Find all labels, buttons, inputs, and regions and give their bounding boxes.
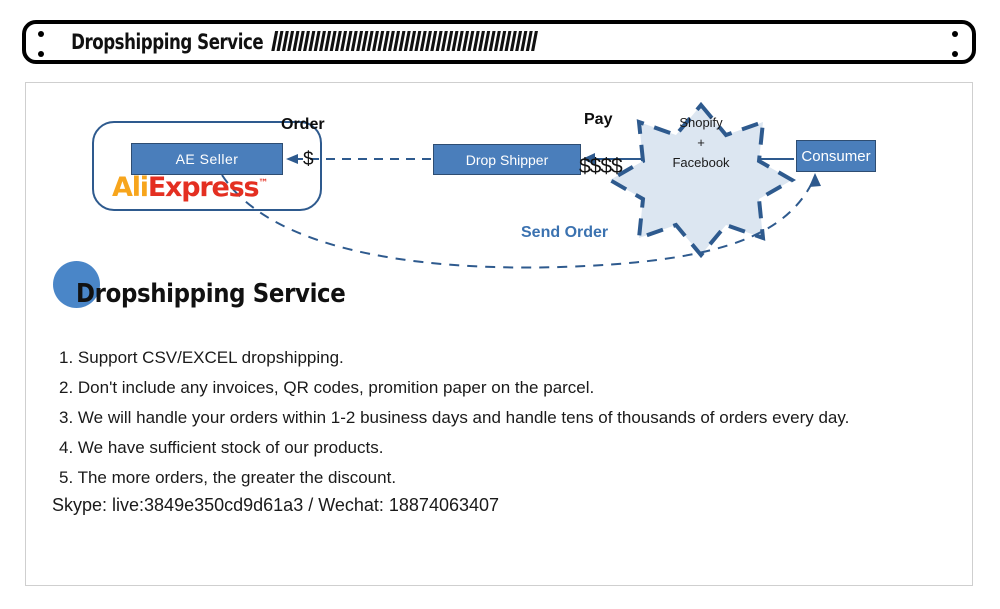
dot-icon xyxy=(952,31,958,37)
label-pay: Pay xyxy=(584,111,612,129)
aliexpress-logo: AliExpress™ xyxy=(112,172,268,203)
node-drop-shipper: Drop Shipper xyxy=(433,144,581,175)
trademark-icon: ™ xyxy=(258,178,268,189)
page-title-text: Dropshipping Service xyxy=(71,30,263,54)
aliexpress-logo-ali: Ali xyxy=(112,172,148,203)
section-heading-text: Dropshipping Service xyxy=(76,279,345,309)
node-drop-shipper-label: Drop Shipper xyxy=(466,152,549,168)
label-order: Order xyxy=(281,116,325,134)
label-send-order: Send Order xyxy=(521,224,608,242)
dropshipping-flow-diagram: AliExpress™ AE Seller Drop Shipper Consu… xyxy=(26,83,974,283)
node-ae-seller: AE Seller xyxy=(131,143,283,175)
star-label-line2: + xyxy=(646,133,756,153)
header-banner: Dropshipping Service ///////////////////… xyxy=(22,20,976,64)
list-item: 4. We have sufficient stock of our produ… xyxy=(59,433,959,463)
section-heading: Dropshipping Service xyxy=(76,279,382,309)
node-consumer: Consumer xyxy=(796,140,876,172)
list-item: 5. The more orders, the greater the disc… xyxy=(59,463,959,493)
banner-dots-right xyxy=(952,31,960,61)
contact-info: Skype: live:3849e350cd9d61a3 / Wechat: 1… xyxy=(52,495,499,516)
header-slash-decoration: ////////////////////////////////////////… xyxy=(271,27,771,58)
service-bullet-list: 1. Support CSV/EXCEL dropshipping. 2. Do… xyxy=(59,343,959,493)
label-dollar: $ xyxy=(303,149,314,171)
aliexpress-logo-express: Express xyxy=(148,172,259,203)
star-label-line3: Facebook xyxy=(646,153,756,173)
page-title: Dropshipping Service xyxy=(58,30,276,54)
dot-icon xyxy=(952,51,958,57)
star-label-line1: Shopify xyxy=(646,113,756,133)
content-panel: AliExpress™ AE Seller Drop Shipper Consu… xyxy=(25,82,973,586)
node-consumer-label: Consumer xyxy=(801,148,870,165)
label-dollars: $$$$ xyxy=(579,155,622,179)
dot-icon xyxy=(38,51,44,57)
dot-icon xyxy=(38,31,44,37)
node-ae-seller-label: AE Seller xyxy=(176,151,239,167)
list-item: 3. We will handle your orders within 1-2… xyxy=(59,403,959,433)
star-label: Shopify + Facebook xyxy=(646,113,756,173)
banner-dots-left xyxy=(38,31,46,61)
list-item: 2. Don't include any invoices, QR codes,… xyxy=(59,373,959,403)
list-item: 1. Support CSV/EXCEL dropshipping. xyxy=(59,343,959,373)
